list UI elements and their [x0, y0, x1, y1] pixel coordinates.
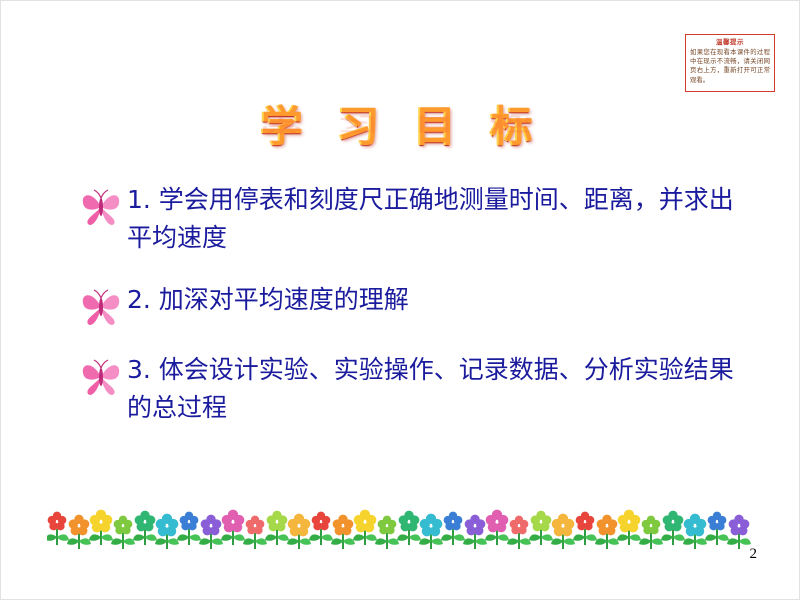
- butterfly-icon: [79, 187, 125, 227]
- butterfly-icon: [79, 287, 125, 327]
- list-item: 3. 体会设计实验、实验操作、记录数据、分析实验结果的总过程: [79, 351, 739, 427]
- flower-border-decoration: [47, 507, 759, 553]
- list-item: 1. 学会用停表和刻度尺正确地测量时间、距离，并求出平均速度: [79, 181, 739, 257]
- list-item: 2. 加深对平均速度的理解: [79, 281, 739, 327]
- slide-title-text: 学 习 目 标: [254, 93, 548, 154]
- note-body: 如果您在现看本课件的过程中在现示不流畅，请关闭网页右上方，重新打开可正常观看。: [690, 48, 770, 85]
- slide-title: 学 习 目 标: [1, 93, 800, 154]
- butterfly-icon: [79, 357, 125, 397]
- note-heading: 温馨提示: [690, 38, 770, 47]
- slide-canvas: 温馨提示 如果您在现看本课件的过程中在现示不流畅，请关闭网页右上方，重新打开可正…: [0, 0, 800, 600]
- note-box: 温馨提示 如果您在现看本课件的过程中在现示不流畅，请关闭网页右上方，重新打开可正…: [685, 34, 775, 92]
- page-number: 2: [750, 546, 758, 563]
- objectives-list: 1. 学会用停表和刻度尺正确地测量时间、距离，并求出平均速度 2. 加深对平: [79, 181, 739, 451]
- list-item-text: 1. 学会用停表和刻度尺正确地测量时间、距离，并求出平均速度: [125, 181, 739, 257]
- list-item-text: 2. 加深对平均速度的理解: [125, 281, 739, 319]
- list-item-text: 3. 体会设计实验、实验操作、记录数据、分析实验结果的总过程: [125, 351, 739, 427]
